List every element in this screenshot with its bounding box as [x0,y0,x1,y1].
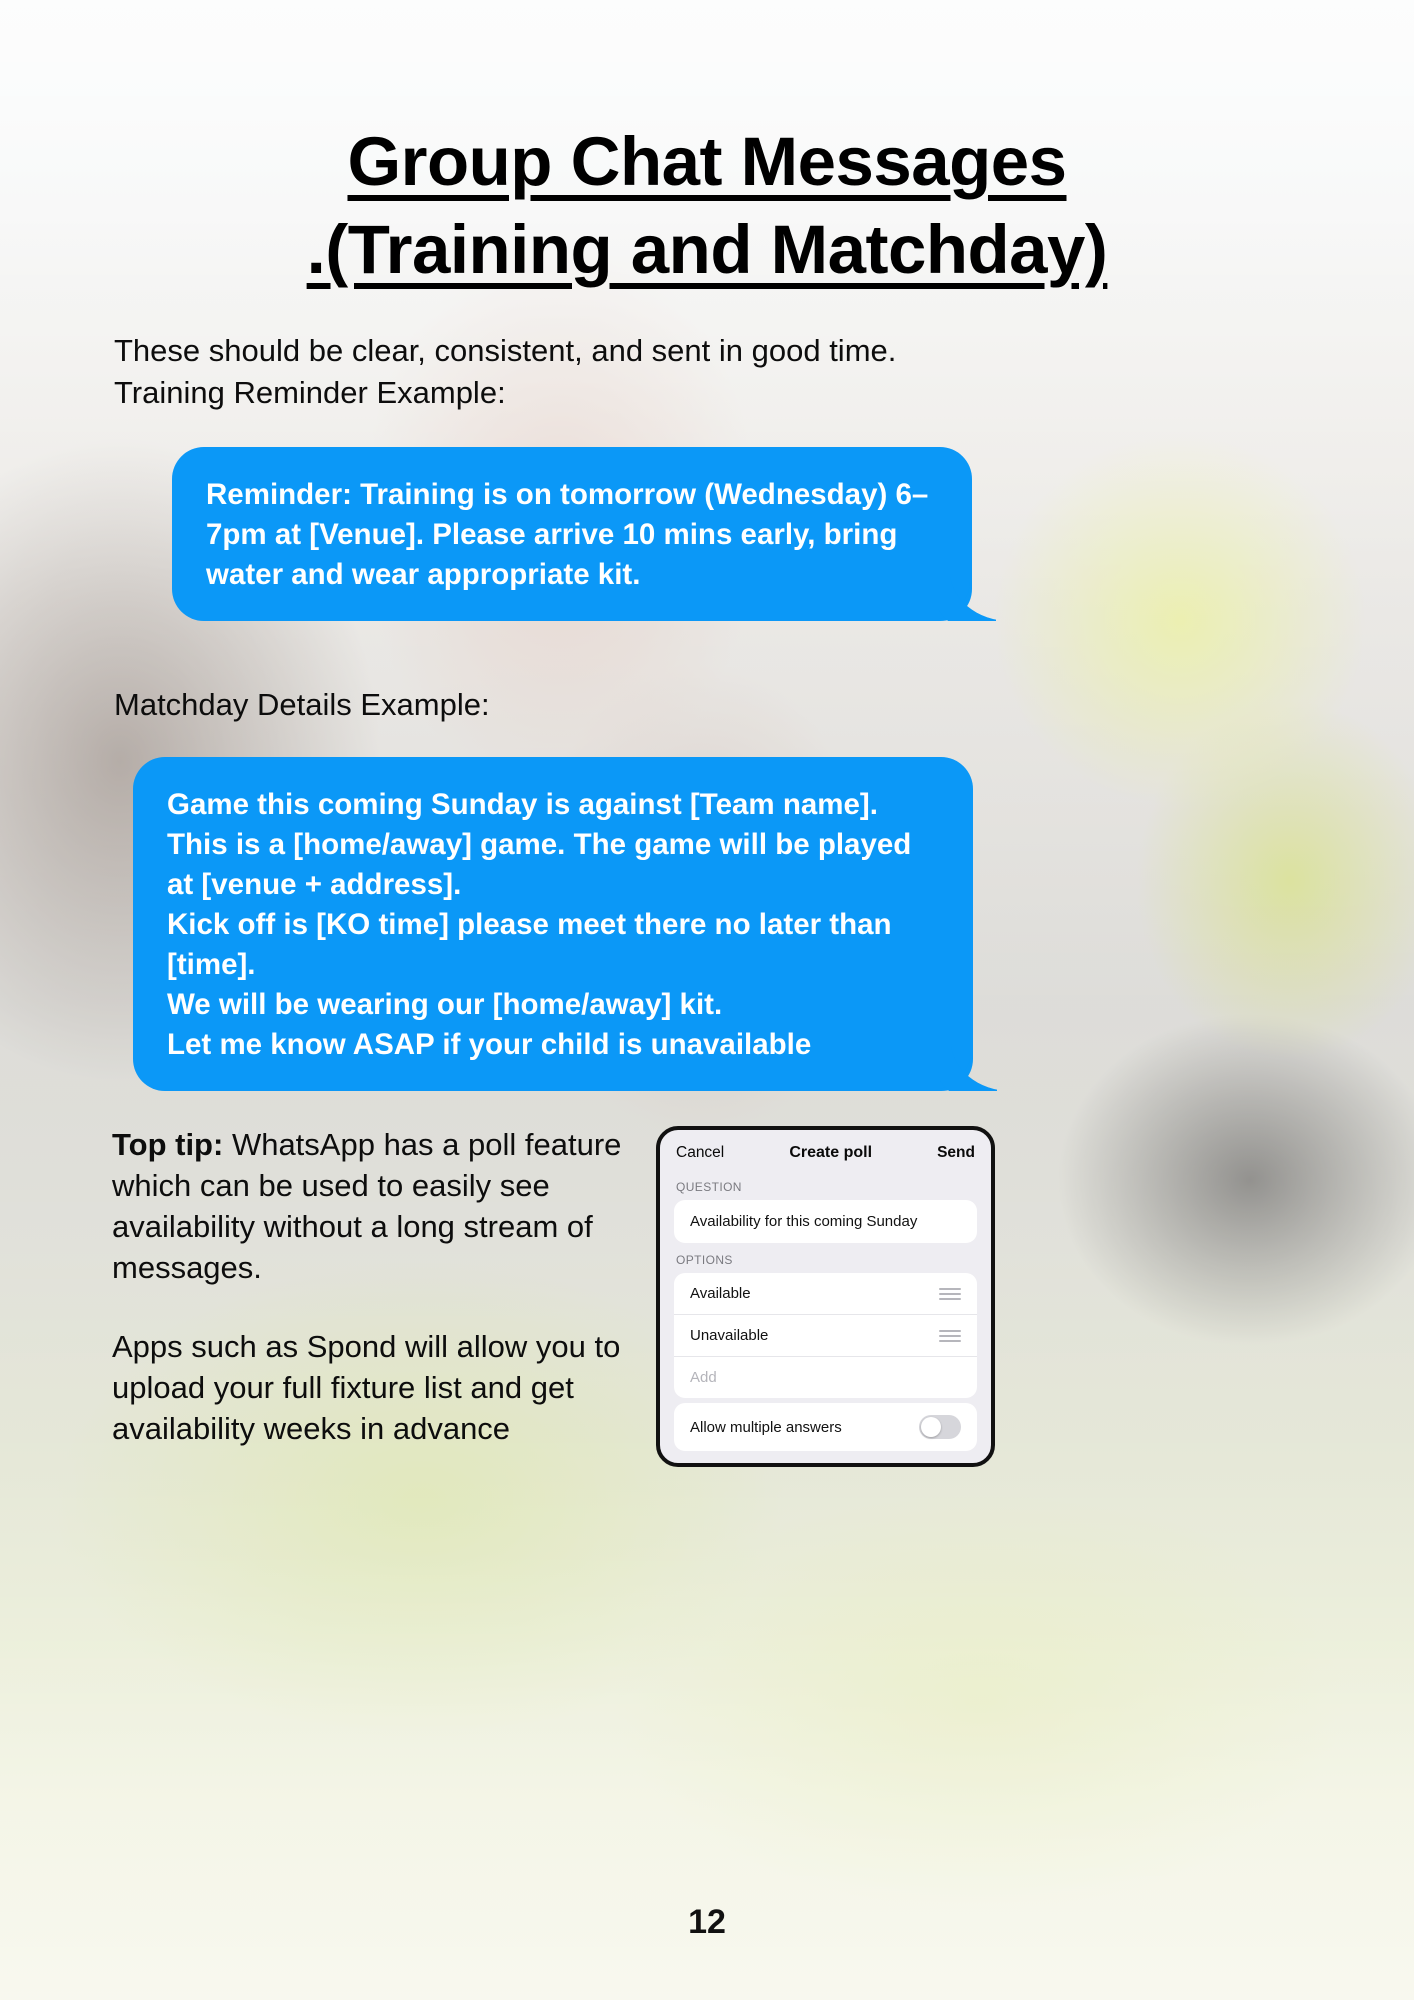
poll-send-button[interactable]: Send [937,1144,975,1162]
poll-option-row[interactable]: Unavailable [674,1315,977,1357]
page-number: 12 [0,1903,1414,1942]
chat-bubble-training: Reminder: Training is on tomorrow (Wedne… [172,447,972,621]
page-title: Group Chat Messages .(Training and Match… [0,118,1414,294]
poll-option-row[interactable]: Available [674,1273,977,1315]
intro-paragraph: These should be clear, consistent, and s… [114,330,1014,414]
chat-bubble-matchday-line-2: Kick off is [KO time] please meet there … [167,905,939,985]
poll-options-list: Available Unavailable Add [674,1273,977,1398]
poll-allow-multiple-label: Allow multiple answers [690,1419,842,1436]
chat-bubble-matchday: Game this coming Sunday is against [Team… [133,757,973,1091]
chat-bubble-matchday-line-3: We will be wearing our [home/away] kit. [167,985,939,1025]
chat-bubble-tail-icon [939,1045,999,1091]
poll-title: Create poll [789,1144,872,1162]
top-tip-paragraph: Top tip: WhatsApp has a poll feature whi… [112,1124,632,1288]
page-content: Group Chat Messages .(Training and Match… [0,0,1414,2000]
top-tip-label: Top tip: [112,1127,223,1162]
poll-allow-multiple-row[interactable]: Allow multiple answers [674,1403,977,1451]
chat-bubble-tail-icon [938,575,998,621]
poll-add-option-row[interactable]: Add [674,1357,977,1398]
spond-body: Apps such as Spond will allow you to upl… [112,1326,632,1449]
intro-line-1: These should be clear, consistent, and s… [114,330,1014,372]
poll-question-input[interactable]: Availability for this coming Sunday [674,1200,977,1243]
poll-option-label: Available [690,1285,751,1302]
drag-handle-icon[interactable] [939,1288,961,1300]
whatsapp-create-poll-card: Cancel Create poll Send QUESTION Availab… [656,1126,995,1467]
poll-cancel-button[interactable]: Cancel [676,1144,724,1162]
poll-add-option-placeholder: Add [690,1369,717,1386]
intro-line-2: Training Reminder Example: [114,372,1014,414]
poll-top-bar: Cancel Create poll Send [660,1130,991,1170]
page-title-line-1: Group Chat Messages [0,118,1414,206]
poll-options-section-label: OPTIONS [660,1243,991,1273]
chat-bubble-matchday-line-4: Let me know ASAP if your child is unavai… [167,1025,939,1065]
chat-bubble-training-text: Reminder: Training is on tomorrow (Wedne… [206,475,938,595]
page-title-line-2: .(Training and Matchday) [0,206,1414,294]
poll-question-section-label: QUESTION [660,1170,991,1200]
poll-option-label: Unavailable [690,1327,768,1344]
spond-paragraph: Apps such as Spond will allow you to upl… [112,1326,632,1449]
poll-allow-multiple-toggle[interactable] [919,1415,961,1439]
drag-handle-icon[interactable] [939,1330,961,1342]
matchday-example-label: Matchday Details Example: [114,684,490,726]
chat-bubble-matchday-line-1: Game this coming Sunday is against [Team… [167,785,939,905]
